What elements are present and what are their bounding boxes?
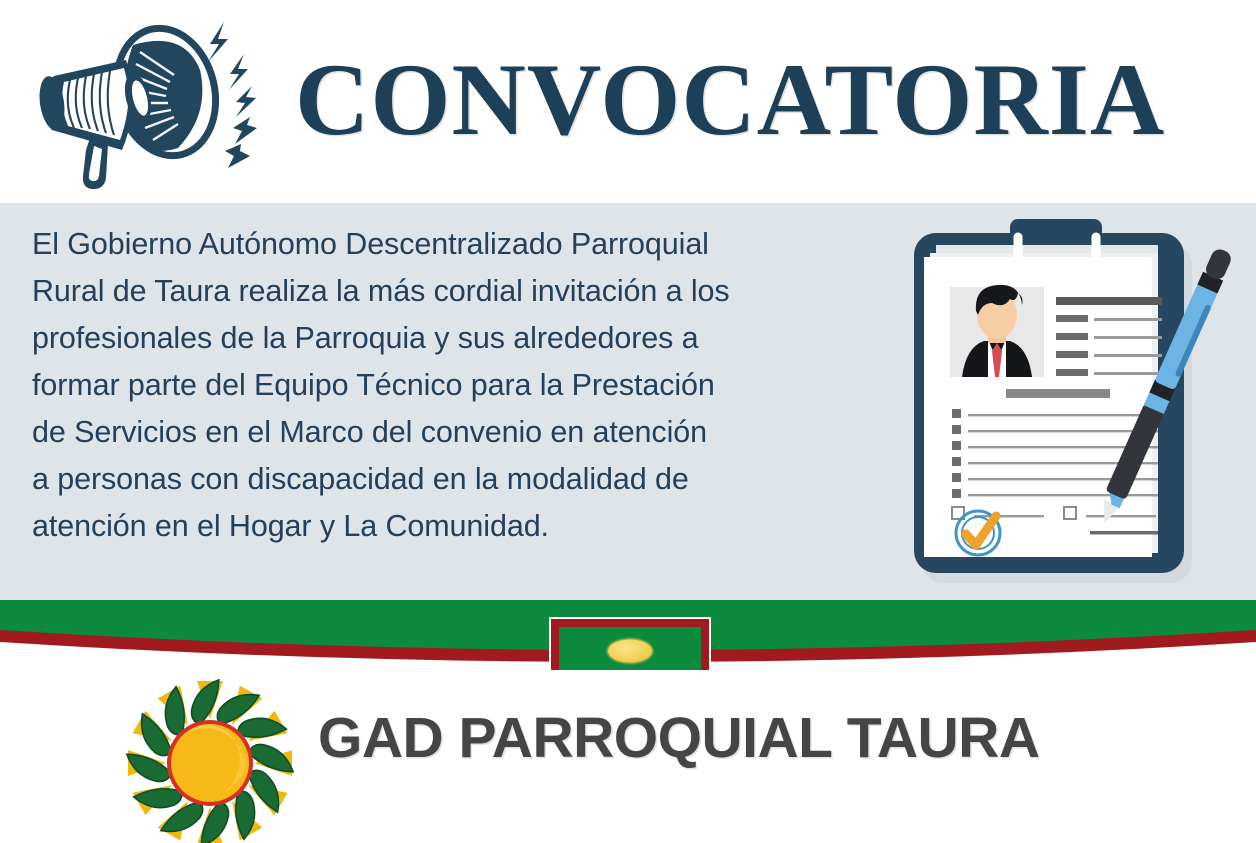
sun-leaf-logo bbox=[112, 674, 308, 843]
announcement-line: formar parte del Equipo Técnico para la … bbox=[32, 362, 862, 409]
announcement-line: a personas con discapacidad en la modali… bbox=[32, 456, 862, 503]
poster-footer: GAD PARROQUIAL TAURA bbox=[0, 670, 1256, 843]
announcement-line: atención en el Hogar y La Comunidad. bbox=[32, 503, 862, 550]
announcement-text: El Gobierno Autónomo Descentralizado Par… bbox=[32, 221, 862, 550]
announcement-line: El Gobierno Autónomo Descentralizado Par… bbox=[32, 221, 862, 268]
announcement-panel: El Gobierno Autónomo Descentralizado Par… bbox=[0, 203, 1256, 603]
convocatoria-poster: CONVOCATORIA El Gobierno Autónomo Descen… bbox=[0, 0, 1256, 843]
announcement-line: profesionales de la Parroquia y sus alre… bbox=[32, 315, 862, 362]
page-title: CONVOCATORIA bbox=[295, 38, 1225, 163]
megaphone-icon bbox=[28, 10, 268, 190]
poster-header: CONVOCATORIA bbox=[0, 0, 1256, 203]
announcement-line: Rural de Taura realiza la más cordial in… bbox=[32, 268, 862, 315]
organization-name: GAD PARROQUIAL TAURA bbox=[318, 703, 1039, 773]
emblem-sun-icon bbox=[608, 640, 652, 663]
announcement-line: de Servicios en el Marco del convenio en… bbox=[32, 409, 862, 456]
clipboard-resume-pen-icon bbox=[900, 211, 1250, 596]
